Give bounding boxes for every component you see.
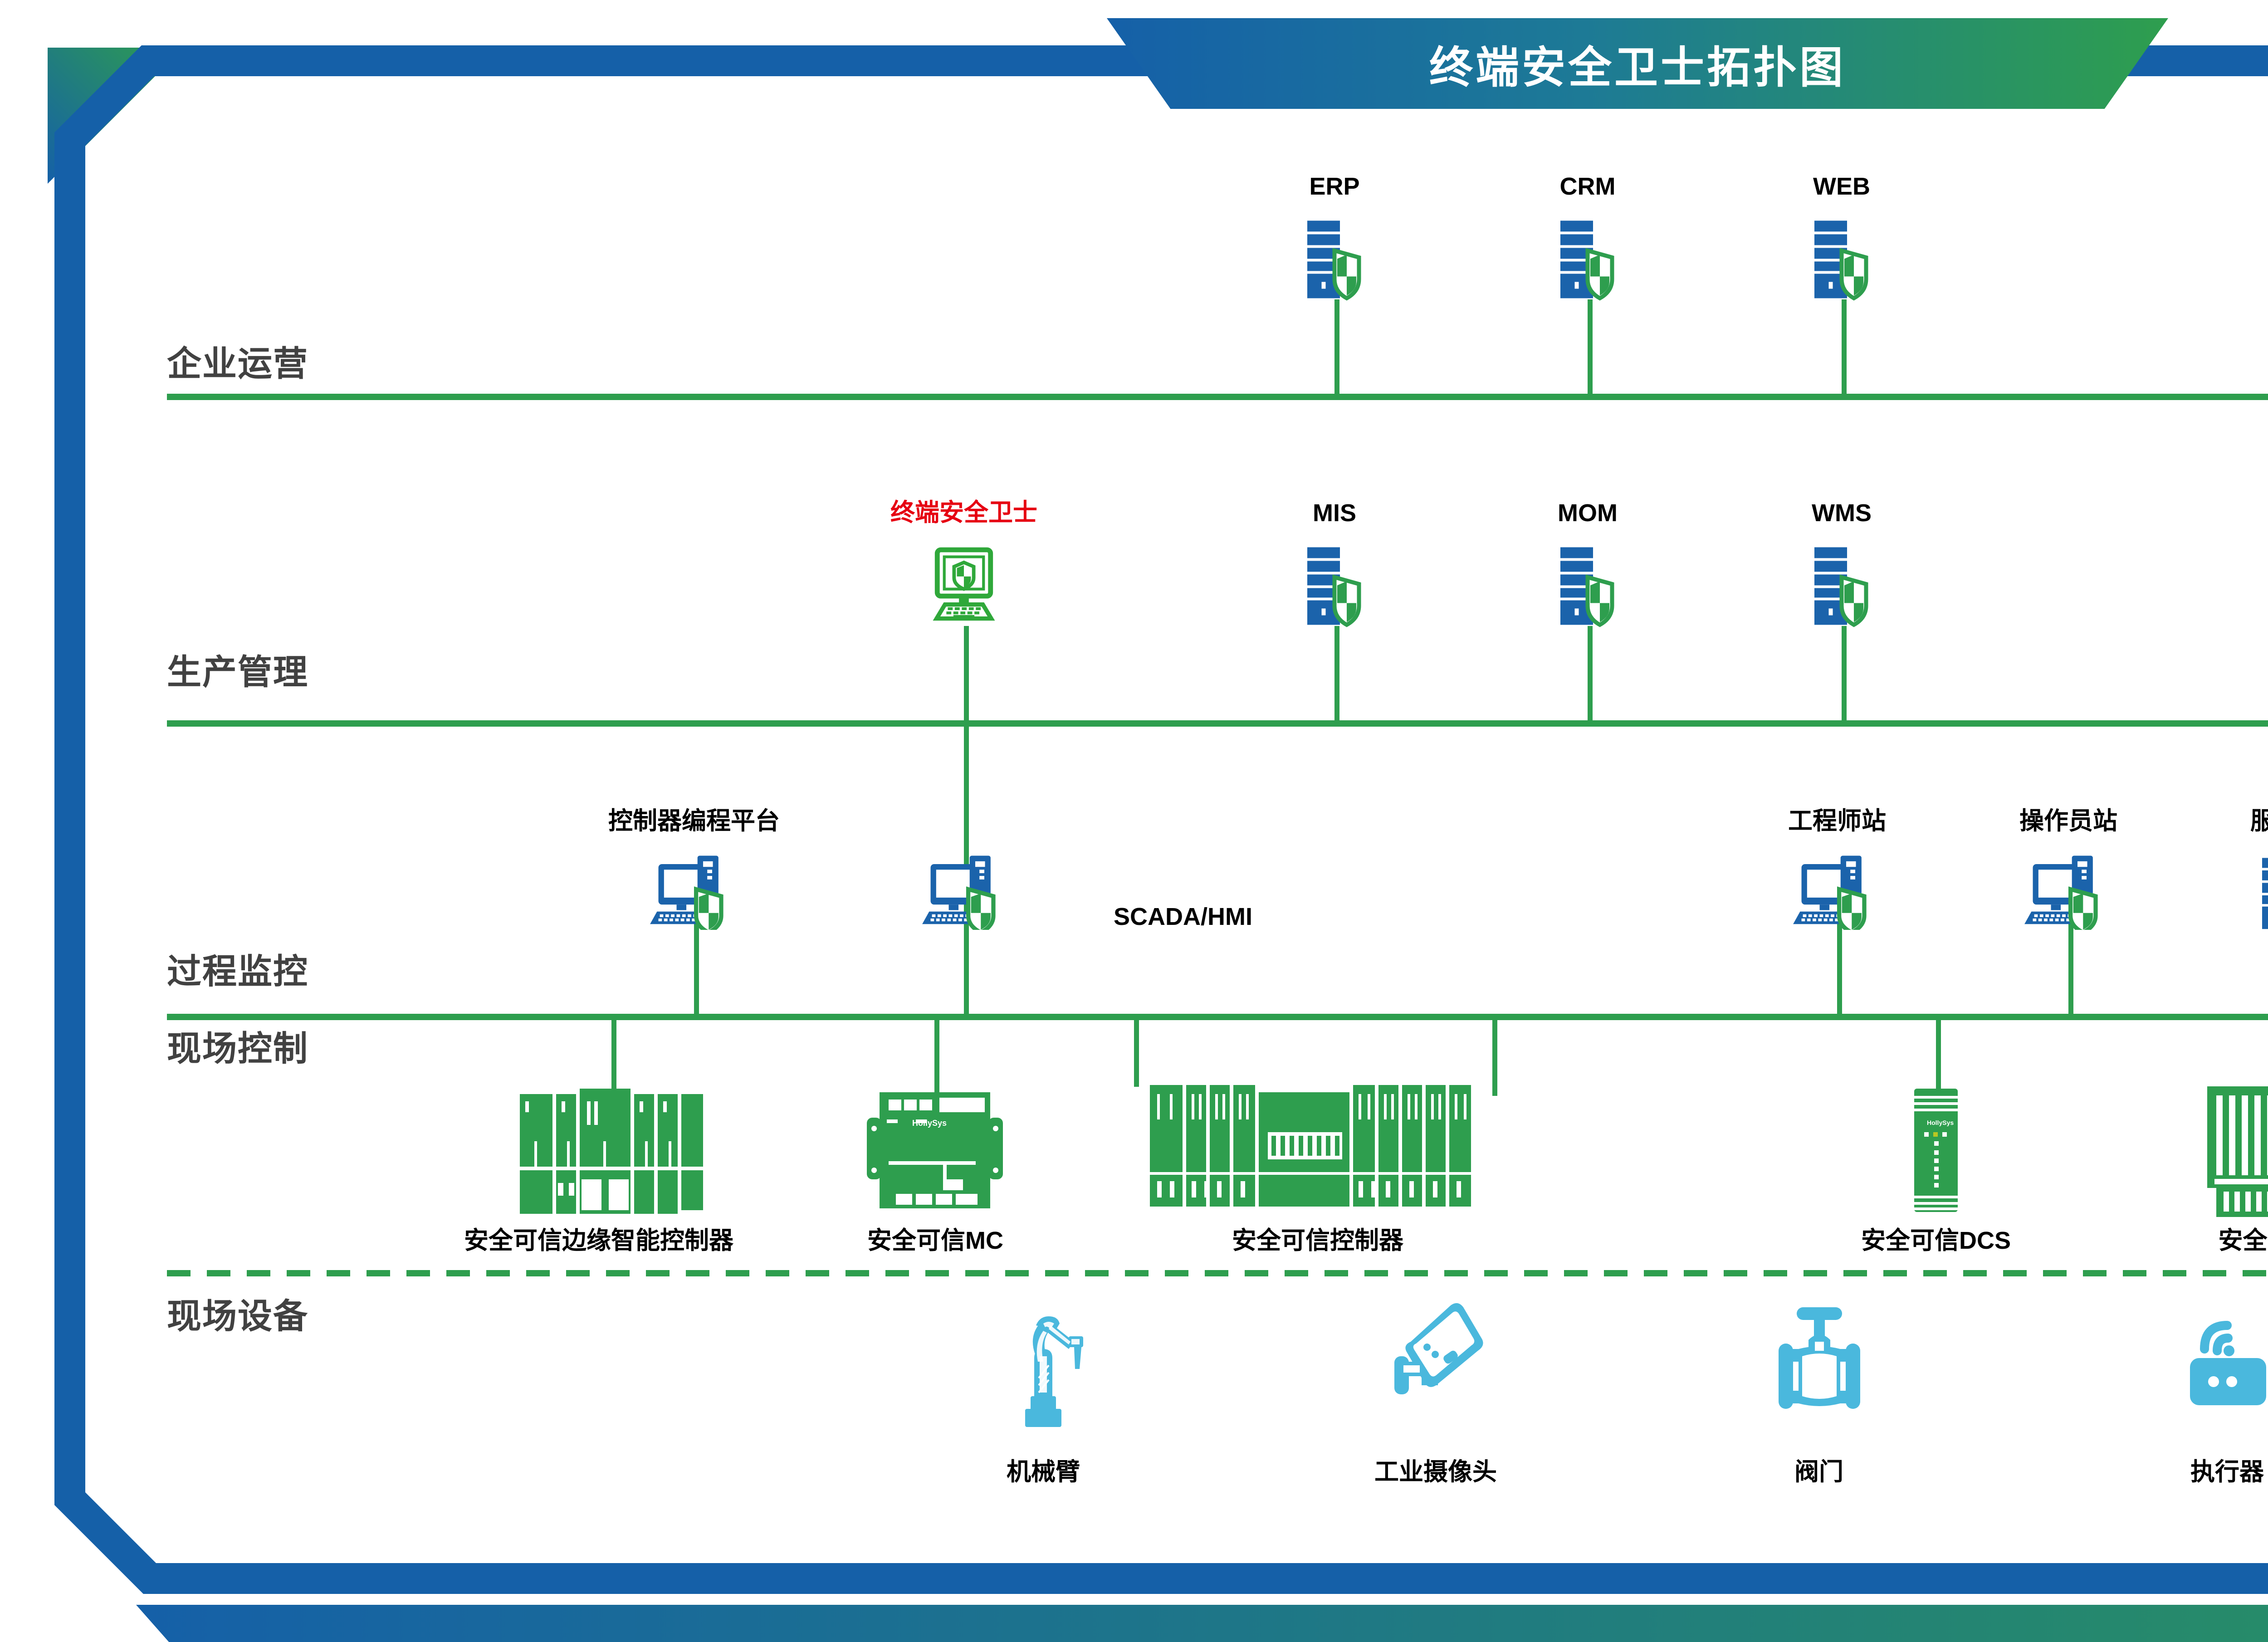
node-label-mc: 安全可信MC <box>867 1220 1003 1256</box>
connector-mom <box>1588 626 1593 724</box>
server-shield-icon <box>1801 218 1882 304</box>
zone-label-enterprise: 企业运营 <box>167 336 308 386</box>
node-label-edge-controller: 安全可信边缘智能控制器 <box>464 1220 733 1256</box>
connector-dcs <box>1936 1019 1941 1100</box>
node-label-operator-station: 操作员站 <box>2019 801 2117 836</box>
node-endpoint-guard[interactable] <box>925 547 1002 628</box>
node-valve[interactable] <box>1771 1302 1867 1417</box>
node-label-robot-arm: 机械臂 <box>1007 1451 1080 1487</box>
node-label-mis: MIS <box>1313 499 1356 527</box>
valve-icon <box>1771 1302 1867 1415</box>
node-label-wms: WMS <box>1812 499 1872 527</box>
node-label-engineer-station: 工程师站 <box>1788 801 1886 836</box>
node-mom[interactable] <box>1547 544 1628 633</box>
workstation-shield-icon <box>2023 853 2114 930</box>
bus-line-enterprise <box>167 394 2268 400</box>
node-server[interactable] <box>2250 855 2268 937</box>
sis-rack-icon <box>2205 1086 2268 1218</box>
bus-line-process <box>167 1014 2268 1020</box>
node-label-dcs: 安全可信DCS <box>1861 1220 2011 1256</box>
node-actuator[interactable] <box>2177 1302 2268 1417</box>
node-mis[interactable] <box>1294 544 1375 633</box>
node-label-camera: 工业摄像头 <box>1374 1451 1497 1487</box>
zone-label-field-device: 现场设备 <box>167 1288 308 1338</box>
node-dcs[interactable]: HollySys <box>1909 1089 1963 1218</box>
plc-module-icon <box>516 1089 707 1220</box>
bus-line-field-device <box>167 1270 2268 1276</box>
node-label-mom: MOM <box>1558 499 1618 527</box>
zone-label-process: 过程监控 <box>167 943 308 993</box>
node-sis[interactable] <box>2205 1086 2268 1220</box>
connector-edge-controller <box>611 1019 616 1100</box>
workstation-shield-icon <box>1792 853 1882 930</box>
server-shield-icon <box>2250 855 2268 934</box>
node-crm[interactable] <box>1547 218 1628 306</box>
mc-controller-icon: HollySys <box>860 1092 1009 1210</box>
node-mc[interactable]: HollySys <box>860 1092 1009 1212</box>
node-label-crm: CRM <box>1560 172 1616 200</box>
node-operator-station[interactable] <box>2023 853 2114 932</box>
zone-label-field-control: 现场控制 <box>167 1021 308 1070</box>
node-plc-platform[interactable] <box>649 853 739 932</box>
connector-mc <box>934 1019 939 1096</box>
connector-crm <box>1588 299 1593 396</box>
connector-web <box>1842 299 1847 396</box>
node-controller-rack[interactable] <box>1150 1085 1481 1214</box>
node-robot-arm[interactable] <box>998 1302 1089 1436</box>
node-edge-controller[interactable] <box>516 1089 707 1222</box>
node-web[interactable] <box>1801 218 1882 306</box>
node-label-server: 服务器 <box>2250 801 2268 836</box>
connector-endpoint-guard <box>964 626 969 724</box>
node-label-actuator: 执行器 <box>2190 1451 2264 1487</box>
workstation-shield-icon <box>921 853 1012 930</box>
node-label-scada-hmi: SCADA/HMI <box>1114 903 1252 931</box>
server-shield-icon <box>1547 544 1628 630</box>
node-label-erp: ERP <box>1309 172 1359 200</box>
node-label-web: WEB <box>1813 172 1870 200</box>
title-banner: 终端安全卫士拓扑图 <box>1107 18 2168 109</box>
connector-controller-rack-2 <box>1492 1019 1497 1096</box>
secure-terminal-icon <box>925 547 1002 626</box>
camera-icon <box>1383 1302 1488 1415</box>
actuator-icon <box>2177 1302 2268 1415</box>
controller-rack-icon <box>1150 1085 1481 1212</box>
robot-arm-icon <box>998 1302 1089 1433</box>
svg-text:HollySys: HollySys <box>912 1119 947 1128</box>
workstation-shield-icon <box>649 853 739 930</box>
connector-mis <box>1334 626 1339 724</box>
node-label-plc-platform: 控制器编程平台 <box>608 801 780 836</box>
connector-wms <box>1842 626 1847 724</box>
server-shield-icon <box>1801 544 1882 630</box>
topology-diagram: 终端安全卫士拓扑图 企业运营 生产管理 过程监控 现场控制 现场设备 <box>0 0 2268 1642</box>
node-label-endpoint-guard: 终端安全卫士 <box>890 492 1037 528</box>
node-wms[interactable] <box>1801 544 1882 633</box>
server-shield-icon <box>1294 544 1375 630</box>
server-shield-icon <box>1547 218 1628 304</box>
connector-erp <box>1334 299 1339 396</box>
server-shield-icon <box>1294 218 1375 304</box>
node-camera[interactable] <box>1383 1302 1488 1417</box>
node-engineer-station[interactable] <box>1792 853 1882 932</box>
node-label-valve: 阀门 <box>1794 1451 1843 1487</box>
bus-line-production <box>167 720 2268 727</box>
node-scada-hmi[interactable] <box>921 853 1012 932</box>
node-erp[interactable] <box>1294 218 1375 306</box>
dcs-module-icon: HollySys <box>1909 1089 1963 1216</box>
node-label-controller-rack: 安全可信控制器 <box>1232 1220 1403 1256</box>
page-title: 终端安全卫士拓扑图 <box>1107 18 2168 109</box>
svg-text:HollySys: HollySys <box>1927 1119 1954 1126</box>
zone-label-production: 生产管理 <box>167 644 308 694</box>
connector-controller-rack <box>1134 1019 1139 1087</box>
node-label-sis: 安全可信SIS <box>2218 1220 2268 1256</box>
decorative-frame <box>0 0 2268 1642</box>
